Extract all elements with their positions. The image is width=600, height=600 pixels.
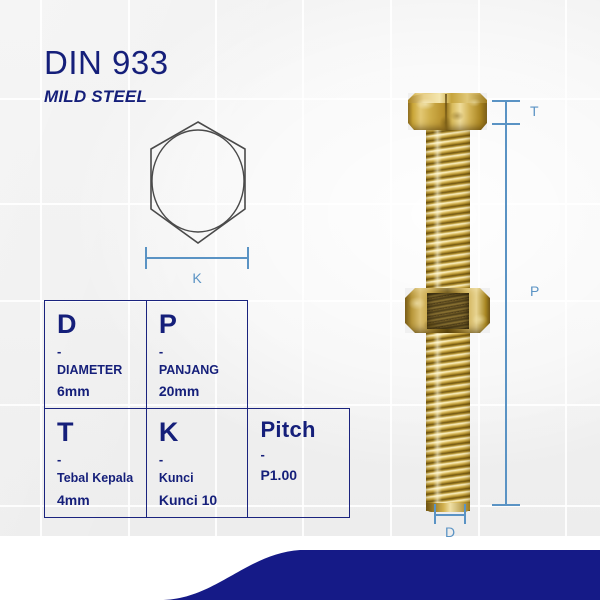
- spec-desc: Kunci: [159, 471, 248, 485]
- spec-dash: -: [57, 453, 146, 466]
- hex-nut-texture: [405, 288, 490, 333]
- k-dimension-tick-right: [247, 247, 249, 269]
- k-dimension-label: K: [145, 270, 249, 286]
- grid-line-vertical: [565, 0, 567, 536]
- k-dimension-line: [145, 257, 249, 259]
- spec-value: 4mm: [57, 493, 146, 507]
- spec-key: K: [159, 419, 248, 446]
- p-dimension-line: [505, 100, 507, 506]
- inscribed-circle: [152, 130, 244, 232]
- spec-cell-panjang: P - PANJANG 20mm: [146, 301, 248, 409]
- spec-desc: PANJANG: [159, 363, 248, 377]
- heading-block: DIN 933 MILD STEEL: [44, 46, 169, 105]
- spec-key: T: [57, 419, 146, 446]
- spec-value: P1.00: [260, 468, 349, 482]
- spec-cell-empty: [248, 301, 350, 409]
- spec-cell-pitch: Pitch - P1.00: [248, 409, 350, 517]
- bolt-head-edge-seam: [445, 94, 447, 129]
- spec-table: D - DIAMETER 6mm P - PANJANG 20mm T - Te…: [44, 300, 350, 518]
- d-dimension-line: [434, 514, 466, 516]
- spec-dash: -: [260, 448, 349, 461]
- bottom-banner: [0, 530, 600, 600]
- spec-key: D: [57, 311, 146, 338]
- spec-desc: Tebal Kepala: [57, 471, 146, 485]
- table-row: T - Tebal Kepala 4mm K - Kunci Kunci 10 …: [45, 409, 350, 517]
- table-row: D - DIAMETER 6mm P - PANJANG 20mm: [45, 301, 350, 409]
- hexagon-svg: [138, 115, 258, 250]
- product-spec-card: DIN 933 MILD STEEL K D - DIAMETER 6mm P …: [0, 0, 600, 600]
- hex-nut-chamfer: [405, 323, 415, 333]
- banner-fill: [160, 550, 600, 600]
- p-dimension-label: P: [530, 283, 539, 299]
- spec-key: P: [159, 311, 248, 338]
- spec-cell-tebal-kepala: T - Tebal Kepala 4mm: [45, 409, 147, 517]
- d-dimension-tick-left: [434, 504, 436, 524]
- t-dimension-line: [505, 100, 507, 125]
- hexagon-diagram: [138, 115, 258, 250]
- bolt-head-chamfer: [480, 93, 487, 100]
- spec-cell-diameter: D - DIAMETER 6mm: [45, 301, 147, 409]
- k-dimension-tick-left: [145, 247, 147, 269]
- bolt-illustration: [395, 85, 515, 525]
- t-dimension-label: T: [530, 103, 539, 119]
- spec-value: 20mm: [159, 384, 248, 398]
- spec-dash: -: [159, 345, 248, 358]
- spec-dash: -: [159, 453, 248, 466]
- bolt-head-chamfer: [481, 123, 487, 130]
- spec-desc: DIAMETER: [57, 363, 146, 377]
- d-dimension-tick-right: [464, 504, 466, 524]
- bolt-head-chamfer: [408, 93, 415, 100]
- p-dimension-tick-bottom: [492, 504, 520, 506]
- hexagon-outline: [151, 122, 245, 243]
- page-title: DIN 933: [44, 46, 169, 79]
- hex-nut-chamfer: [480, 323, 490, 333]
- spec-value: 6mm: [57, 384, 146, 398]
- bottom-banner-shape: [0, 530, 600, 600]
- hex-nut-chamfer: [480, 288, 490, 298]
- page-subtitle: MILD STEEL: [44, 88, 169, 105]
- bolt-head-texture: [408, 93, 487, 130]
- spec-dash: -: [57, 345, 146, 358]
- spec-value: Kunci 10: [159, 493, 248, 507]
- spec-key: Pitch: [260, 419, 349, 441]
- grid-line-vertical: [390, 0, 392, 536]
- bolt-head-chamfer: [408, 123, 414, 130]
- grid-line-vertical: [40, 0, 42, 536]
- spec-cell-kunci: K - Kunci Kunci 10: [146, 409, 248, 517]
- hex-nut-chamfer: [405, 288, 415, 298]
